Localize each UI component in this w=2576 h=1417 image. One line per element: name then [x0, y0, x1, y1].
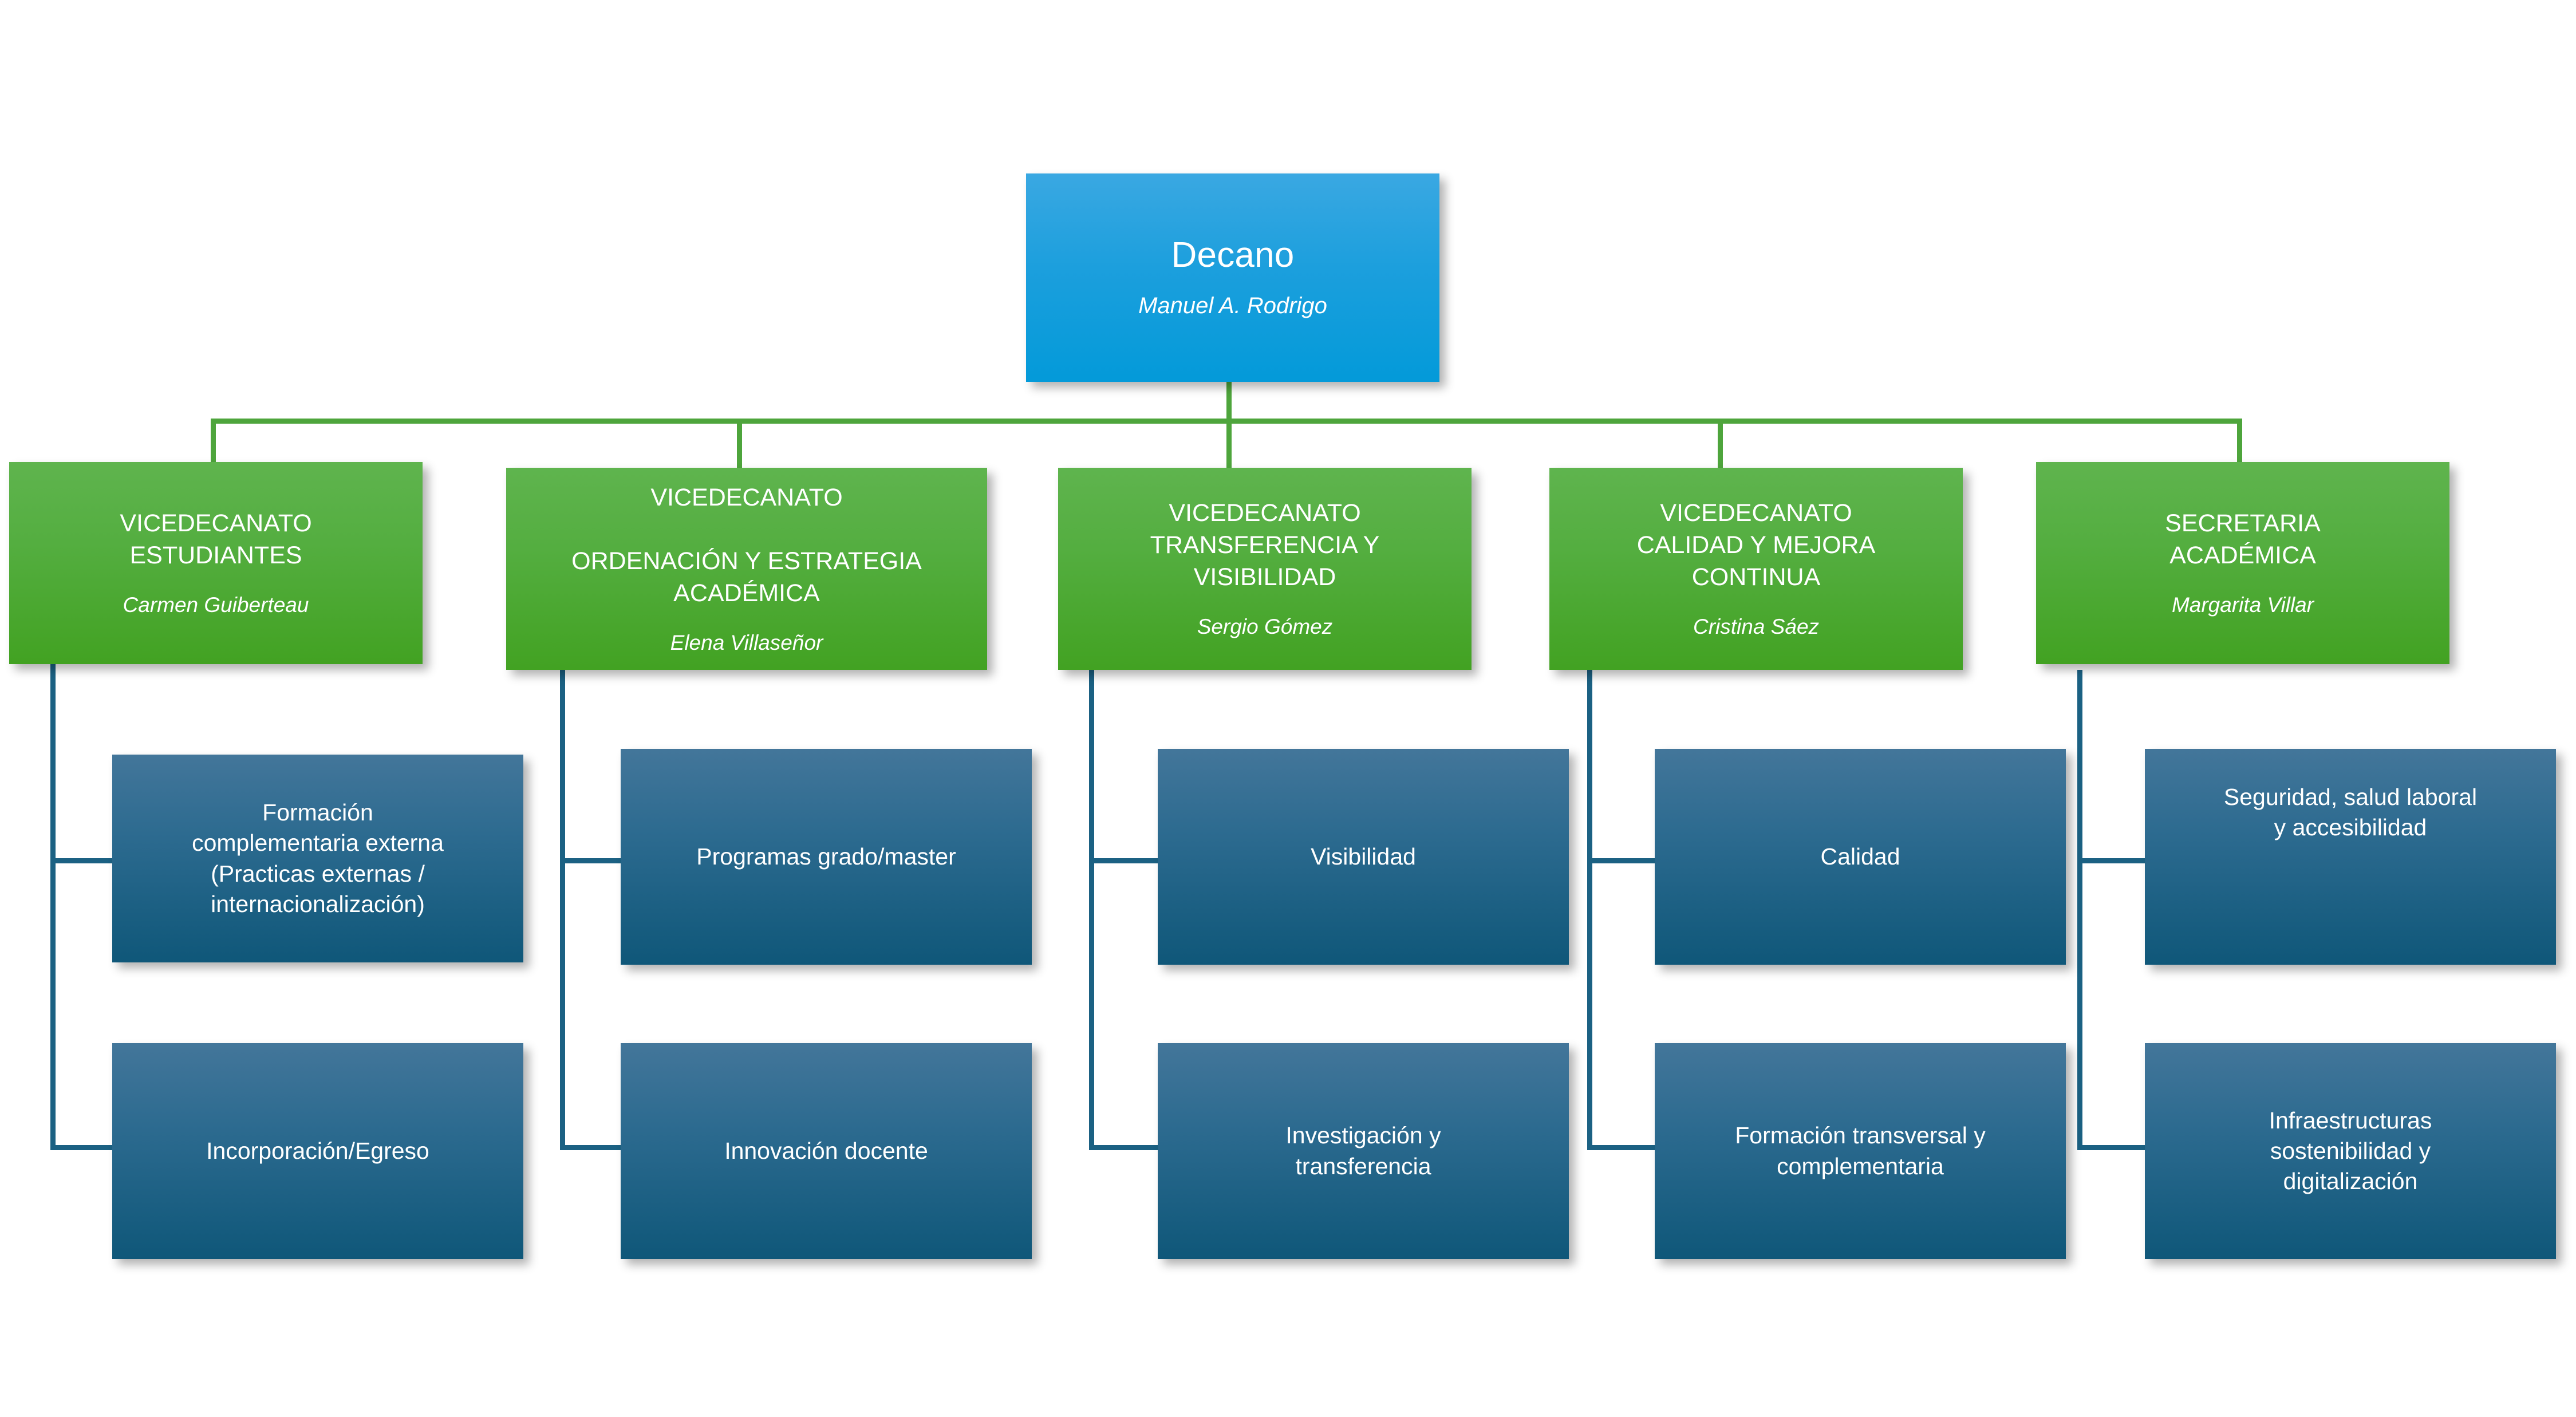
connector-blue-trunk-1	[50, 664, 56, 1150]
node-visibilidad[interactable]: Visibilidad	[1158, 749, 1569, 965]
node-formacion-transversal[interactable]: Formación transversal y complementaria	[1655, 1043, 2066, 1259]
connector-green-drop-3	[1226, 419, 1232, 468]
node-label: Seguridad, salud laboral y accesibilidad	[2224, 782, 2477, 843]
connector-blue-branch-5-2	[2077, 1145, 2145, 1150]
connector-green-drop-1	[211, 419, 216, 462]
connector-blue-branch-1-1	[50, 858, 112, 863]
node-role: VICEDECANATO ORDENACIÓN Y ESTRATEGIA ACA…	[571, 482, 922, 610]
node-vicedecanato-ordenacion[interactable]: VICEDECANATO ORDENACIÓN Y ESTRATEGIA ACA…	[506, 468, 987, 670]
connector-green-drop-2	[737, 419, 742, 468]
node-decano[interactable]: Decano Manuel A. Rodrigo	[1026, 173, 1439, 382]
node-vicedecanato-transferencia[interactable]: VICEDECANATO TRANSFERENCIA Y VISIBILIDAD…	[1058, 468, 1472, 670]
connector-blue-branch-2-1	[560, 858, 621, 863]
node-person: Margarita Villar	[2172, 593, 2314, 618]
node-label: Formación complementaria externa (Practi…	[192, 798, 444, 919]
node-innovacion-docente[interactable]: Innovación docente	[621, 1043, 1032, 1259]
connector-blue-trunk-2	[560, 670, 565, 1150]
node-person: Elena Villaseñor	[670, 630, 823, 656]
connector-blue-branch-1-2	[50, 1145, 112, 1150]
node-infraestructuras-sostenibilidad[interactable]: Infraestructuras sostenibilidad y digita…	[2145, 1043, 2556, 1259]
node-investigacion-transferencia[interactable]: Investigación y transferencia	[1158, 1043, 1569, 1259]
node-role: Decano	[1171, 236, 1295, 274]
node-label: Formación transversal y complementaria	[1735, 1120, 1985, 1182]
node-seguridad-salud-accesibilidad[interactable]: Seguridad, salud laboral y accesibilidad	[2145, 749, 2556, 965]
node-label: Innovación docente	[724, 1136, 928, 1166]
connector-blue-branch-4-2	[1587, 1145, 1655, 1150]
node-person: Cristina Sáez	[1693, 614, 1819, 640]
connector-root-stem	[1226, 380, 1232, 423]
connector-blue-branch-4-1	[1587, 858, 1655, 863]
node-person: Carmen Guiberteau	[123, 593, 309, 618]
node-secretaria-academica[interactable]: SECRETARIA ACADÉMICA Margarita Villar	[2036, 462, 2449, 664]
node-role: VICEDECANATO CALIDAD Y MEJORA CONTINUA	[1637, 498, 1876, 594]
node-label: Programas grado/master	[696, 842, 956, 872]
connector-blue-branch-3-2	[1089, 1145, 1158, 1150]
node-role: VICEDECANATO TRANSFERENCIA Y VISIBILIDAD	[1150, 498, 1380, 594]
connector-blue-trunk-5	[2077, 670, 2082, 1150]
connector-blue-trunk-3	[1089, 670, 1094, 1150]
node-formacion-complementaria-externa[interactable]: Formación complementaria externa (Practi…	[112, 755, 523, 962]
connector-blue-trunk-4	[1587, 670, 1592, 1150]
node-incorporacion-egreso[interactable]: Incorporación/Egreso	[112, 1043, 523, 1259]
node-person: Sergio Gómez	[1197, 614, 1333, 640]
connector-green-drop-4	[1718, 419, 1723, 468]
node-label: Visibilidad	[1311, 842, 1416, 872]
node-calidad[interactable]: Calidad	[1655, 749, 2066, 965]
node-role: SECRETARIA ACADÉMICA	[2165, 508, 2321, 572]
connector-green-drop-5	[2237, 419, 2242, 462]
org-chart: Decano Manuel A. Rodrigo VICEDECANATO ES…	[0, 0, 2576, 1417]
node-role: VICEDECANATO ESTUDIANTES	[120, 508, 311, 572]
node-label: Investigación y transferencia	[1285, 1120, 1441, 1182]
node-label: Infraestructuras sostenibilidad y digita…	[2269, 1106, 2432, 1197]
connector-blue-branch-2-2	[560, 1145, 621, 1150]
connector-blue-branch-3-1	[1089, 858, 1158, 863]
node-label: Incorporación/Egreso	[206, 1136, 429, 1166]
node-vicedecanato-calidad[interactable]: VICEDECANATO CALIDAD Y MEJORA CONTINUA C…	[1549, 468, 1963, 670]
node-vicedecanato-estudiantes[interactable]: VICEDECANATO ESTUDIANTES Carmen Guiberte…	[9, 462, 423, 664]
node-programas-grado-master[interactable]: Programas grado/master	[621, 749, 1032, 965]
node-label: Calidad	[1820, 842, 1900, 872]
node-person: Manuel A. Rodrigo	[1138, 293, 1327, 319]
connector-blue-branch-5-1	[2077, 858, 2145, 863]
